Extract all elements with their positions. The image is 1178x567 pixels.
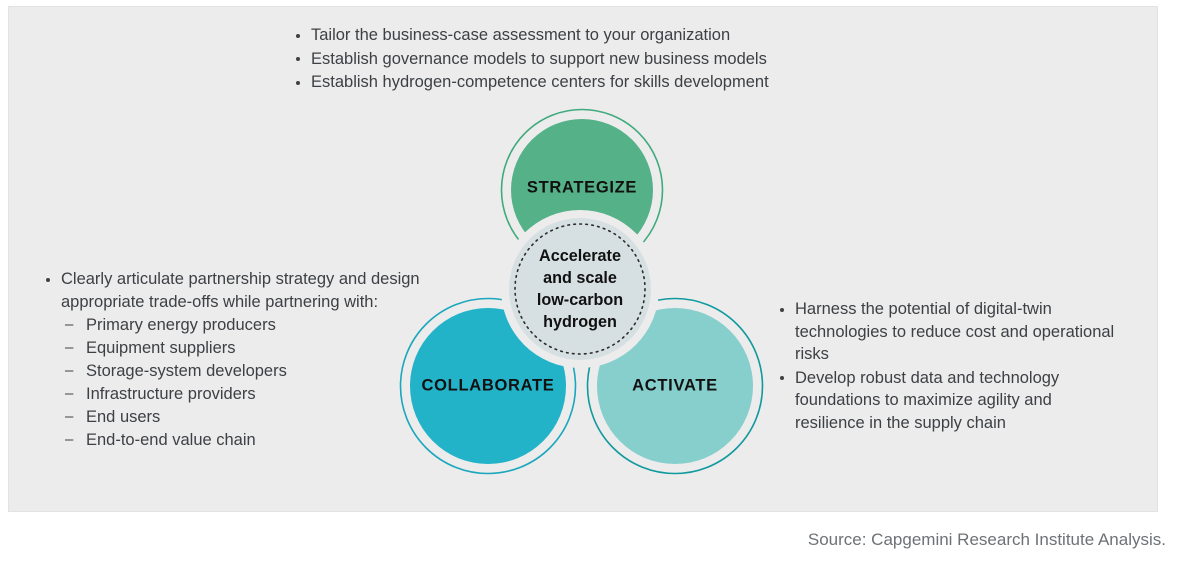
circle-label-strategize: STRATEGIZE xyxy=(527,179,637,198)
left-bullet-block: Clearly articulate partnership strategy … xyxy=(41,268,441,453)
center-line: low-carbon xyxy=(515,289,645,311)
top-bullet-block: Tailor the business-case assessment to y… xyxy=(291,24,891,95)
center-line: Accelerate xyxy=(515,245,645,267)
bullet-text: Establish hydrogen-competence centers fo… xyxy=(311,73,769,91)
list-item: Clearly articulate partnership strategy … xyxy=(41,268,441,452)
center-label: Accelerate and scale low-carbon hydrogen xyxy=(515,245,645,333)
list-item: Develop robust data and technology found… xyxy=(775,367,1125,435)
circle-label-collaborate: COLLABORATE xyxy=(422,377,555,396)
top-bullet-list: Tailor the business-case assessment to y… xyxy=(291,24,891,94)
left-bullet-list: Clearly articulate partnership strategy … xyxy=(41,268,441,452)
list-item: Infrastructure providers xyxy=(61,383,441,406)
list-item: End users xyxy=(61,406,441,429)
list-item: Equipment suppliers xyxy=(61,337,441,360)
list-item: Tailor the business-case assessment to y… xyxy=(291,24,891,47)
left-sub-list: Primary energy producers Equipment suppl… xyxy=(61,314,441,452)
list-item: Establish governance models to support n… xyxy=(291,48,891,71)
diagram-stage: Tailor the business-case assessment to y… xyxy=(0,0,1178,567)
list-item: Primary energy producers xyxy=(61,314,441,337)
center-line: hydrogen xyxy=(515,311,645,333)
bullet-text: Develop robust data and technology found… xyxy=(795,369,1059,432)
list-item: Harness the potential of digital-twin te… xyxy=(775,298,1125,366)
list-item: End-to-end value chain xyxy=(61,429,441,452)
source-caption: Source: Capgemini Research Institute Ana… xyxy=(808,530,1166,550)
right-bullet-block: Harness the potential of digital-twin te… xyxy=(775,298,1125,435)
bullet-text: Establish governance models to support n… xyxy=(311,50,767,68)
circle-label-activate: ACTIVATE xyxy=(632,377,718,396)
list-item: Establish hydrogen-competence centers fo… xyxy=(291,71,891,94)
bullet-text: Clearly articulate partnership strategy … xyxy=(61,270,420,311)
center-line: and scale xyxy=(515,267,645,289)
right-bullet-list: Harness the potential of digital-twin te… xyxy=(775,298,1125,434)
bullet-text: Harness the potential of digital-twin te… xyxy=(795,300,1114,363)
venn-diagram: STRATEGIZE COLLABORATE ACTIVATE Accelera… xyxy=(393,108,768,480)
bullet-text: Tailor the business-case assessment to y… xyxy=(311,26,730,44)
list-item: Storage-system developers xyxy=(61,360,441,383)
